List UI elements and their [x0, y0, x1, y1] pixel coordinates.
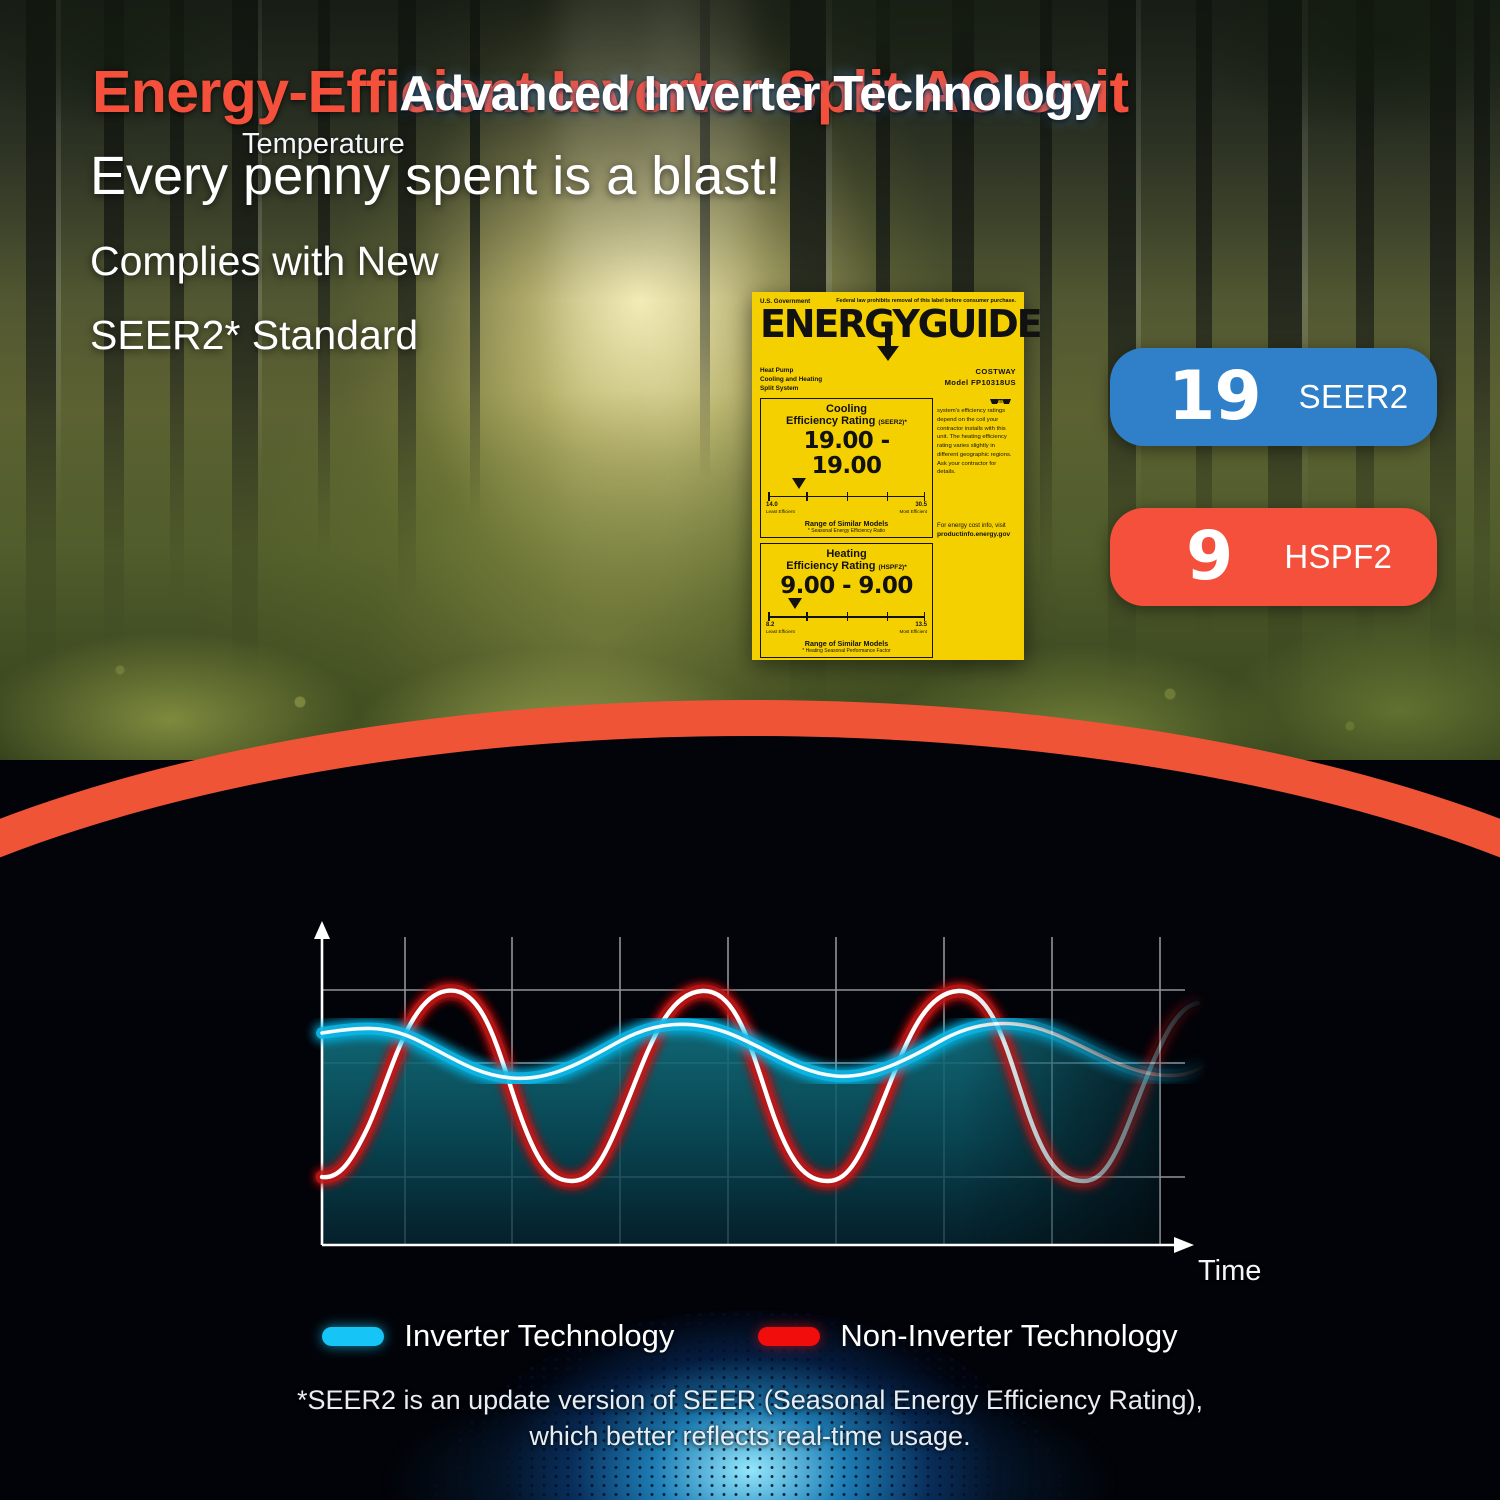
heating-scale-min: 8.2	[766, 622, 795, 629]
cooling-pointer	[766, 478, 927, 490]
heating-least-efficient-label: Least Efficient	[766, 629, 795, 634]
cooling-rating-unit: (SEER2)*	[878, 419, 907, 426]
cooling-heading: Cooling	[766, 403, 927, 415]
legend-swatch-non-inverter-icon	[758, 1327, 820, 1346]
appliance-type-line-3: Split System	[760, 384, 822, 393]
heating-rating-label: Efficiency Rating	[786, 560, 875, 572]
heating-rating-box: Heating Efficiency Rating (HSPF2)* 9.00 …	[760, 543, 933, 658]
appliance-type-line-2: Cooling and Heating	[760, 375, 822, 384]
heating-heading: Heating	[766, 548, 927, 560]
heating-most-efficient-label: Most Efficient	[900, 629, 928, 634]
efficiency-side-note-text: This system's efficiency ratings depend …	[937, 399, 1012, 475]
seer2-footnote: *SEER2 is an update version of SEER (Sea…	[0, 1383, 1500, 1455]
legend-swatch-inverter-icon	[322, 1327, 384, 1346]
legend-item-inverter: Inverter Technology	[322, 1318, 674, 1354]
heating-scale-max: 13.5	[900, 622, 928, 629]
heating-rating-value: 9.00 - 9.00	[766, 574, 927, 598]
cooling-most-efficient-label: Most Efficient	[900, 509, 928, 514]
infographic-root: Energy-Efficient Inverter Split AC Unit …	[0, 0, 1500, 1500]
cooling-rating-box: Cooling Efficiency Rating (SEER2)* 19.00…	[760, 398, 933, 537]
seer2-value: 19	[1168, 363, 1261, 431]
cooling-rating-value: 19.00 - 19.00	[766, 429, 927, 477]
y-axis-label: Temperature	[242, 128, 405, 161]
energyguide-wordmark: ENERGYGUIDE	[760, 306, 1016, 342]
energy-cost-url: productinfo.energy.gov	[937, 531, 1010, 538]
inverter-comparison-chart	[250, 915, 1210, 1285]
appliance-type-line-1: Heat Pump	[760, 366, 822, 375]
cooling-rating-label: Efficiency Rating	[786, 415, 875, 427]
legend-label-non-inverter: Non-Inverter Technology	[840, 1318, 1177, 1354]
model-number: FP10318US	[971, 378, 1016, 387]
energyguide-label: U.S. Government Federal law prohibits re…	[752, 292, 1024, 660]
legend-label-inverter: Inverter Technology	[404, 1318, 674, 1354]
cooling-scale-max: 30.5	[900, 502, 928, 509]
model-label: Model	[945, 378, 969, 387]
manufacturer-name: COSTWAY	[945, 366, 1016, 377]
hspf2-value: 9	[1186, 523, 1232, 591]
mesh-dot-pattern-top	[250, 760, 1250, 919]
cooling-scale	[766, 491, 927, 502]
cooling-scale-min: 14.0	[766, 502, 795, 509]
hero-line-4: SEER2* Standard	[90, 312, 418, 359]
status-badge-seer2: 19 SEER2	[1110, 348, 1437, 446]
cooling-range-label: Range of Similar Models	[766, 519, 927, 528]
seer2-footnote-line-2: which better reflects real-time usage.	[0, 1419, 1500, 1455]
seer2-footnote-line-1: *SEER2 is an update version of SEER (Sea…	[0, 1383, 1500, 1419]
section-title: Advanced Inverter Technology	[0, 66, 1500, 122]
manufacturer-block: COSTWAY Model FP10318US	[945, 366, 1016, 393]
x-axis-arrow-icon	[1174, 1237, 1194, 1253]
heating-rating-unit: (HSPF2)*	[879, 564, 907, 571]
efficiency-side-note: This system's efficiency ratings depend …	[937, 398, 1016, 477]
eyeglasses-icon	[963, 398, 987, 405]
legend-item-non-inverter: Non-Inverter Technology	[758, 1318, 1177, 1354]
hspf2-label: HSPF2	[1284, 538, 1392, 576]
cooling-footnote: * Seasonal Energy Efficiency Ratio	[766, 528, 927, 534]
hero-subtitle: Every penny spent is a blast!	[90, 145, 1090, 207]
cooling-least-efficient-label: Least Efficient	[766, 509, 795, 514]
appliance-type: Heat Pump Cooling and Heating Split Syst…	[760, 366, 822, 393]
heating-pointer	[766, 598, 927, 610]
energy-cost-info: For energy cost info, visit productinfo.…	[937, 521, 1016, 540]
energyguide-wordmark-text: ENERGYGUIDE	[760, 302, 1040, 346]
chart-legend: Inverter Technology Non-Inverter Technol…	[0, 1318, 1500, 1354]
heating-scale	[766, 611, 927, 622]
status-badge-hspf2: 9 HSPF2	[1110, 508, 1437, 606]
energy-cost-line-1: For energy cost info, visit	[937, 521, 1016, 530]
heating-footnote: * Heating Seasonal Performance Factor	[766, 648, 927, 654]
heating-range-label: Range of Similar Models	[766, 639, 927, 648]
y-axis-arrow-icon	[314, 921, 330, 939]
seer2-label: SEER2	[1299, 378, 1409, 416]
hero-line-3: Complies with New	[90, 238, 439, 285]
